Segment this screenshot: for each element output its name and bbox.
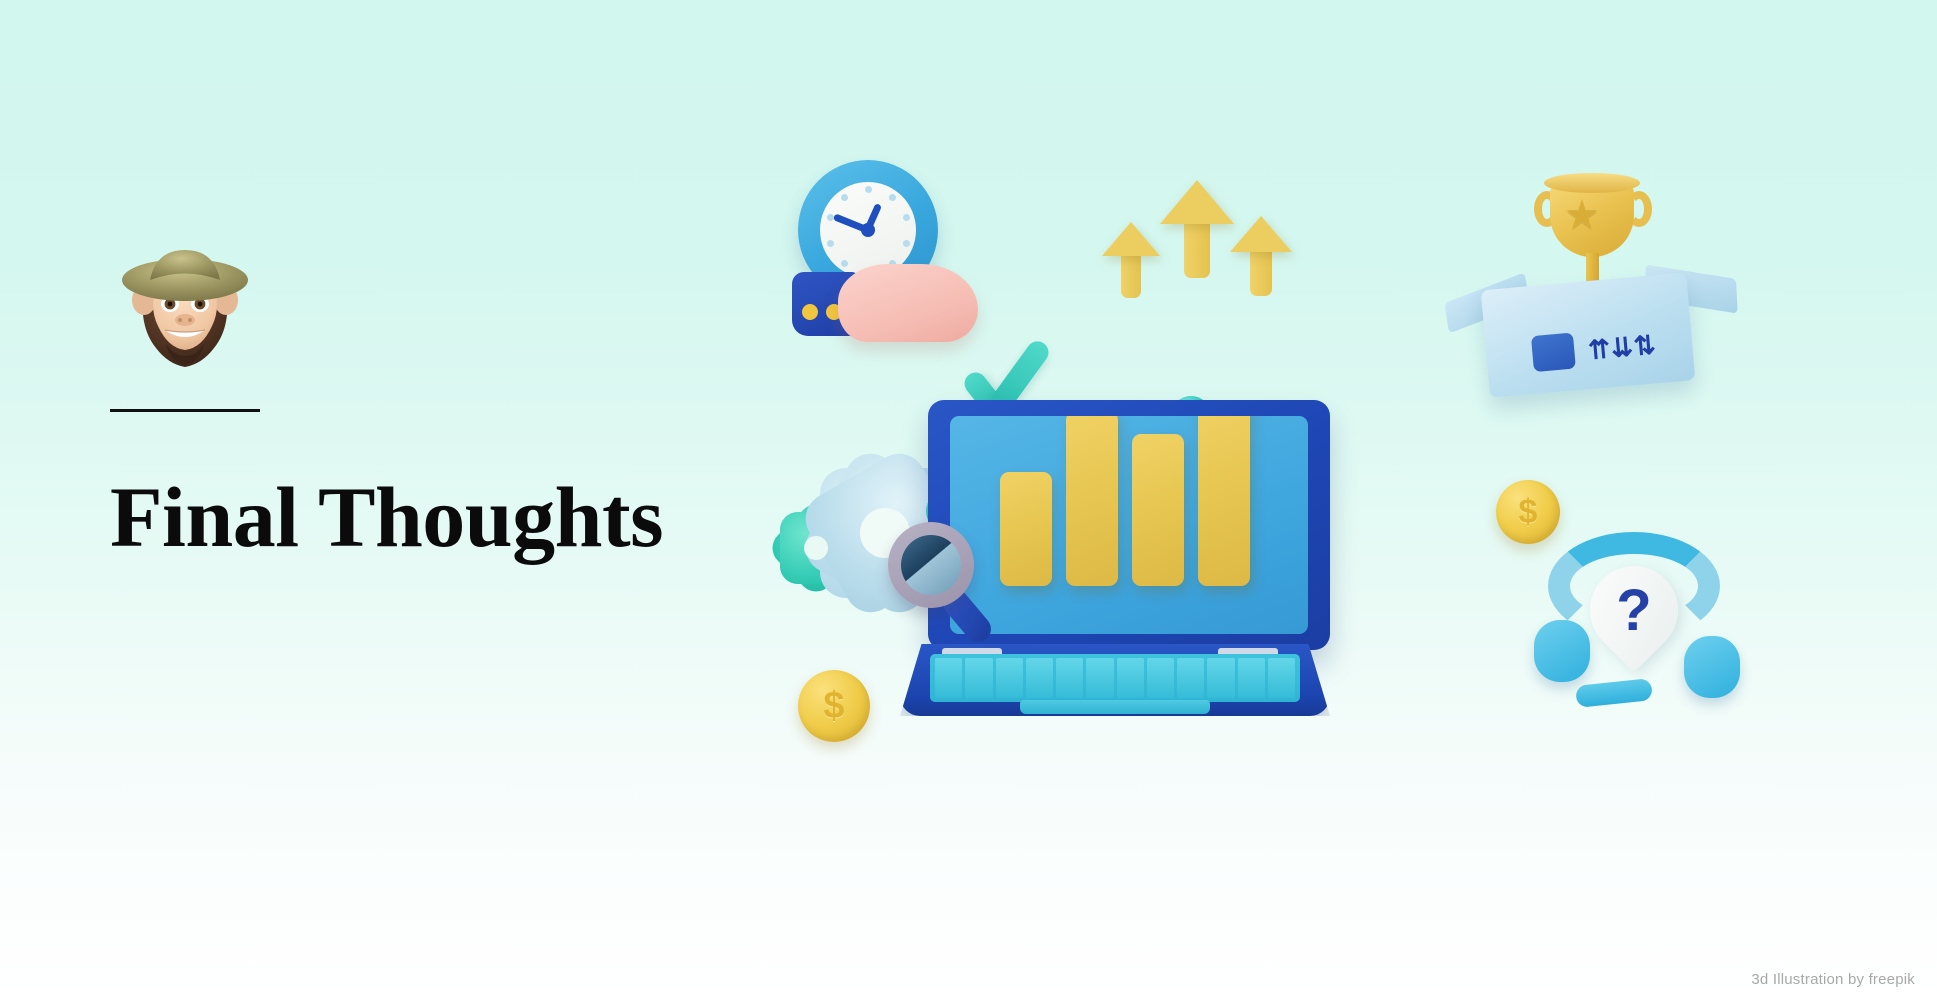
arrow-up-large-icon	[1160, 180, 1234, 278]
bar	[1066, 416, 1118, 586]
question-mark-icon: ?	[1590, 566, 1678, 654]
3d-business-analytics-illustration: $ ★	[820, 150, 1890, 810]
slide-canvas: Final Thoughts	[0, 0, 1937, 1000]
headset-microphone	[1575, 678, 1653, 708]
bar	[1132, 434, 1184, 586]
image-credit: 3d Illustration by freepik	[1751, 971, 1915, 988]
laptop-keyboard	[930, 654, 1300, 702]
arrow-up-medium-icon	[1230, 216, 1292, 296]
left-content-block: Final Thoughts	[110, 240, 750, 560]
bar	[1198, 416, 1250, 586]
headset-earcup-right	[1684, 636, 1740, 698]
trophy-in-gift-box: ★ ⇈⇊⇅	[1460, 165, 1720, 395]
headset-earcup-left	[1534, 620, 1590, 682]
hand-holding-clock	[750, 160, 980, 370]
title-divider	[110, 409, 260, 412]
box-label	[1531, 333, 1576, 373]
bar	[1000, 472, 1052, 586]
box-fragile-marks: ⇈⇊⇅	[1587, 329, 1658, 366]
trophy-star-icon: ★	[1564, 195, 1600, 235]
upward-arrows	[1102, 180, 1292, 310]
headset-with-question-mark: ?	[1538, 532, 1738, 712]
monkey-face-with-hat-logo	[110, 240, 260, 375]
open-hand	[838, 264, 978, 342]
magnifier-icon	[888, 522, 1006, 640]
laptop-trackpad	[1020, 700, 1210, 714]
dollar-coin-icon: $	[798, 670, 870, 742]
arrow-up-small-icon	[1102, 222, 1160, 298]
page-title: Final Thoughts	[110, 474, 750, 560]
bar-chart	[1000, 416, 1250, 586]
open-gift-box: ⇈⇊⇅	[1455, 246, 1726, 400]
